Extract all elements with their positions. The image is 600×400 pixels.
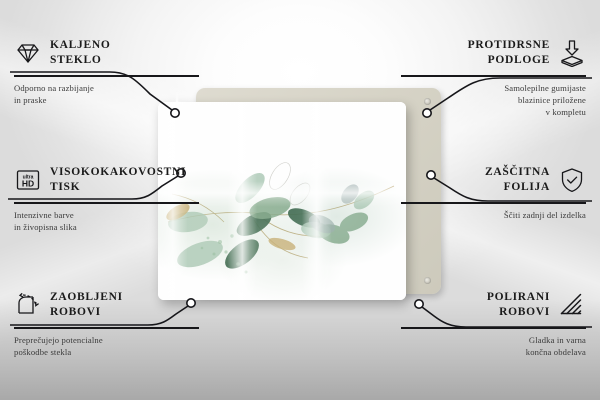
rounded-corner-icon (14, 291, 42, 319)
feature-title: PROTIDRSNE PODLOGE (468, 38, 550, 67)
shield-check-icon (558, 166, 586, 194)
hatch-lines-icon (558, 291, 586, 319)
feature-subtitle: Gladka in varna končna obdelava (401, 334, 586, 358)
infographic-canvas: KALJENO STEKLO Odporno na razbijanje in … (0, 0, 600, 400)
divider (401, 202, 586, 204)
feature-title: POLIRANI ROBOVI (487, 290, 550, 319)
feature-title: ZAŠČITNA FOLIJA (485, 165, 550, 194)
feature-high-quality-print: ultra HD VISOKOKAKOVOSTNI TISK Intenzivn… (14, 163, 199, 233)
feature-title: ZAOBLJENI ROBOVI (50, 290, 123, 319)
feature-anti-slip-pads: PROTIDRSNE PODLOGE Samolepilne gumijaste… (401, 36, 586, 118)
svg-text:HD: HD (22, 178, 34, 188)
feature-subtitle: Preprečujejo potencialne poškodbe stekla (14, 334, 199, 358)
feature-subtitle: Ščiti zadnji del izdelka (401, 209, 586, 221)
feature-subtitle: Odporno na razbijanje in praske (14, 82, 199, 106)
feature-protective-film: ZAŠČITNA FOLIJA Ščiti zadnji del izdelka (401, 163, 586, 221)
feature-rounded-edges: ZAOBLJENI ROBOVI Preprečujejo potencialn… (14, 288, 199, 358)
ultra-hd-icon: ultra HD (14, 166, 42, 194)
divider (401, 75, 586, 77)
press-pad-icon (558, 39, 586, 67)
divider (14, 75, 199, 77)
feature-title: VISOKOKAKOVOSTNI TISK (50, 165, 186, 194)
feature-tempered-glass: KALJENO STEKLO Odporno na razbijanje in … (14, 36, 199, 106)
feature-polished-edges: POLIRANI ROBOVI Gladka in varna končna o… (401, 288, 586, 358)
feature-subtitle: Samolepilne gumijaste blazinice priložen… (401, 82, 586, 119)
feature-subtitle: Intenzivne barve in živopisna slika (14, 209, 199, 233)
feature-title: KALJENO STEKLO (50, 38, 111, 67)
diamond-icon (14, 39, 42, 67)
divider (14, 327, 199, 329)
divider (401, 327, 586, 329)
divider (14, 202, 199, 204)
anti-slip-pad (424, 277, 431, 284)
